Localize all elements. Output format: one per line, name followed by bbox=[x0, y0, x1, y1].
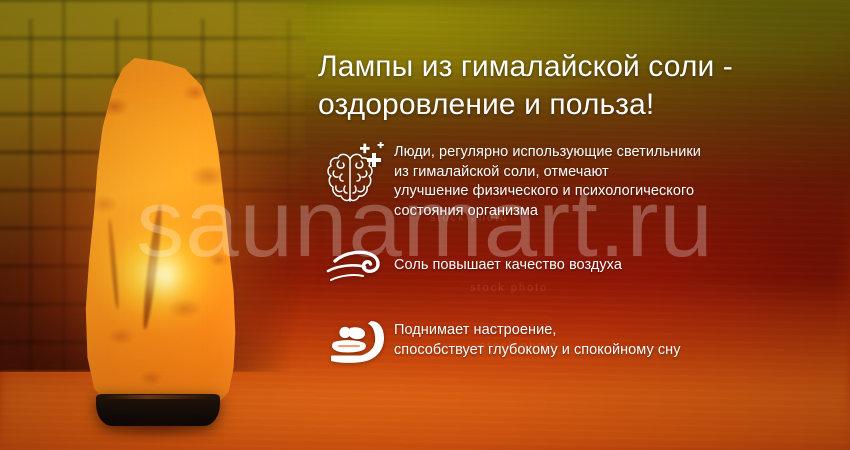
feature-text-sleep-mood: Поднимает настроение, способствует глубо… bbox=[394, 313, 681, 360]
feature-item-mental-wellbeing: Люди, регулярно использующие светильники… bbox=[318, 142, 832, 221]
feature-text-mental-wellbeing: Люди, регулярно использующие светильники… bbox=[394, 142, 701, 221]
feature-item-sleep-mood: Поднимает настроение, способствует глубо… bbox=[318, 313, 832, 371]
page-title: Лампы из гималайской соли - оздоровление… bbox=[318, 48, 832, 124]
feature-list: Люди, регулярно использующие светильники… bbox=[318, 142, 832, 371]
feature-text-air-quality: Соль повышает качество воздуха bbox=[394, 241, 622, 276]
content-panel: Лампы из гималайской соли - оздоровление… bbox=[318, 48, 832, 400]
person-sleeping-icon bbox=[318, 313, 394, 371]
salt-lamp-promo-banner: stock photo stock photo stock photo saun… bbox=[0, 0, 850, 450]
feature-item-air-quality: Соль повышает качество воздуха bbox=[318, 241, 832, 293]
wind-swirl-icon bbox=[318, 241, 394, 293]
brain-sparkle-icon bbox=[318, 142, 394, 220]
